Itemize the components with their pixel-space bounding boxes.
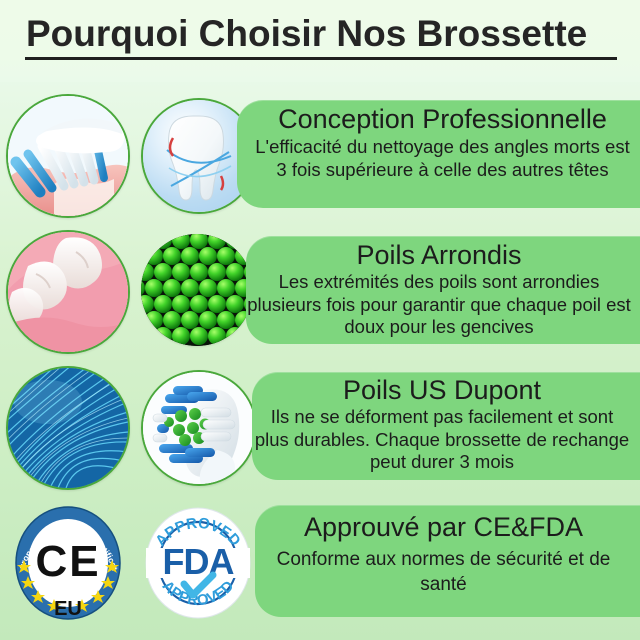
feature-body: Conforme aux normes de sécurité et de sa… [255, 547, 632, 597]
rounded-bristle-tips-macro [141, 234, 253, 346]
brush-head-illustration [143, 372, 255, 484]
toothbrush-head-on-gums-photo [6, 94, 130, 218]
blue-nylon-filament-macro [6, 366, 130, 490]
infographic-page: Pourquoi Choisir Nos Brossette [0, 0, 640, 640]
fda-approved-badge: APPROVED APPROVED FDA [140, 504, 256, 622]
green-spheres-illustration [141, 234, 253, 346]
feature-row-conception: Conception Professionnelle L'efficacité … [0, 90, 640, 218]
feature-body: L'efficacité du nettoyage des angles mor… [251, 136, 634, 181]
ce-eu-label: EU [54, 598, 82, 620]
ce-mark-text: CE [35, 537, 100, 586]
feature-heading: Approuvé par CE&FDA [255, 511, 632, 543]
feature-heading: Conception Professionnelle [251, 103, 634, 135]
feature-body: Les extrémités des poils sont arrondies … [246, 271, 632, 339]
feature-row-certifications: European Alliance CE Certificate CE EU [0, 498, 640, 628]
feature-row-poils-arrondis: Poils Arrondis Les extrémités des poils … [0, 226, 640, 352]
feature-heading: Poils Arrondis [246, 239, 632, 271]
fda-badge-graphic: APPROVED APPROVED FDA [140, 504, 256, 622]
filament-fan-illustration [8, 368, 128, 488]
molars-illustration [8, 232, 128, 352]
title-underline [25, 57, 617, 60]
feature-heading: Poils US Dupont [252, 374, 632, 406]
feature-body: Ils ne se déforment pas facilement et so… [252, 406, 632, 474]
page-title: Pourquoi Choisir Nos Brossette [26, 12, 621, 56]
feature-row-poils-us-dupont: Poils US Dupont Ils ne se déforment pas … [0, 362, 640, 492]
feature-panel-certifications: Approuvé par CE&FDA Conforme aux normes … [255, 505, 640, 617]
feature-panel-conception: Conception Professionnelle L'efficacité … [237, 100, 640, 208]
fda-mark-text: FDA [163, 541, 235, 582]
ce-badge-graphic: European Alliance CE Certificate CE EU [8, 502, 128, 624]
header-band: Pourquoi Choisir Nos Brossette [0, 0, 640, 82]
feature-panel-poils-us-dupont: Poils US Dupont Ils ne se déforment pas … [252, 372, 640, 480]
brush-on-gums-illustration [8, 96, 128, 216]
brush-head-macro-photo [141, 370, 257, 486]
ce-certificate-badge: European Alliance CE Certificate CE EU [8, 502, 128, 624]
molar-teeth-gum-photo [6, 230, 130, 354]
feature-panel-poils-arrondis: Poils Arrondis Les extrémités des poils … [246, 236, 640, 344]
